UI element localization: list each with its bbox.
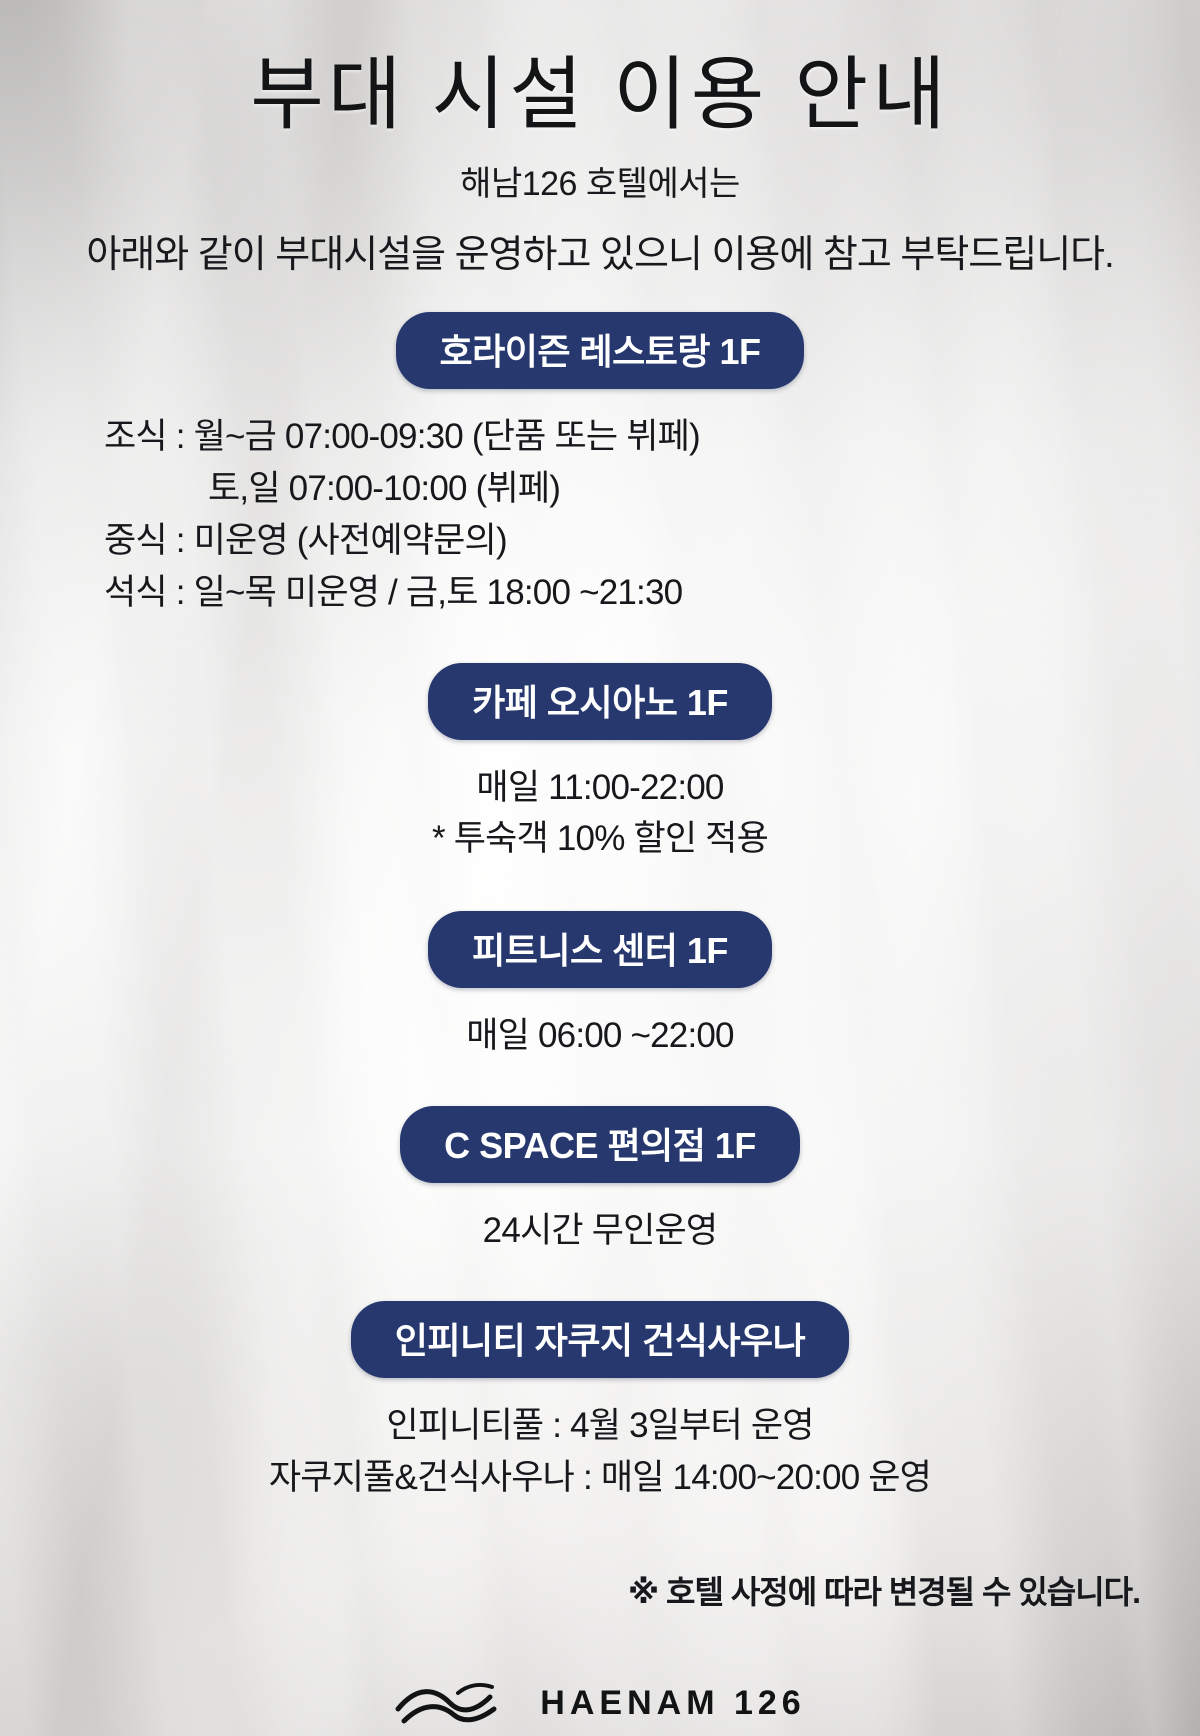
detail-line: 매일 11:00-22:00 [0, 762, 1200, 814]
detail-line: * 투숙객 10% 할인 적용 [0, 813, 1200, 865]
subtitle-line-1: 해남126 호텔에서는 [0, 156, 1200, 205]
facility-badge-convenience-store[interactable]: C SPACE 편의점 1F [400, 1106, 800, 1183]
detail-line: 조식 : 월~금 07:00-09:30 (단품 또는 뷔페) [104, 411, 1200, 463]
facility-details-fitness: 매일 06:00 ~22:00 [0, 1010, 1200, 1062]
notice-text: ※ 호텔 사정에 따라 변경될 수 있습니다. [0, 1567, 1200, 1613]
wave-icon [394, 1673, 514, 1734]
facility-section-convenience-store: C SPACE 편의점 1F 24시간 무인운영 [0, 1106, 1200, 1257]
detail-line: 토,일 07:00-10:00 (뷔페) [104, 463, 1200, 515]
facility-badge-cafe[interactable]: 카페 오시아노 1F [428, 663, 772, 740]
facility-details-sauna: 인피니티풀 : 4월 3일부터 운영 자쿠지풀&건식사우나 : 매일 14:00… [0, 1400, 1200, 1504]
detail-line: 인피니티풀 : 4월 3일부터 운영 [0, 1400, 1200, 1452]
page-title: 부대 시설 이용 안내 [0, 0, 1200, 142]
facility-section-restaurant: 호라이즌 레스토랑 1F 조식 : 월~금 07:00-09:30 (단품 또는… [0, 312, 1200, 618]
facility-section-sauna: 인피니티 자쿠지 건식사우나 인피니티풀 : 4월 3일부터 운영 자쿠지풀&건… [0, 1301, 1200, 1504]
subtitle-line-2: 아래와 같이 부대시설을 운영하고 있으니 이용에 참고 부탁드립니다. [0, 223, 1200, 278]
poster-content: 부대 시설 이용 안내 해남126 호텔에서는 아래와 같이 부대시설을 운영하… [0, 0, 1200, 1734]
brand-logo: HAENAM 126 [0, 1673, 1200, 1734]
facility-section-cafe: 카페 오시아노 1F 매일 11:00-22:00 * 투숙객 10% 할인 적… [0, 663, 1200, 866]
facility-details-convenience-store: 24시간 무인운영 [0, 1205, 1200, 1257]
facility-section-fitness: 피트니스 센터 1F 매일 06:00 ~22:00 [0, 911, 1200, 1062]
detail-line: 매일 06:00 ~22:00 [0, 1010, 1200, 1062]
poster: 부대 시설 이용 안내 해남126 호텔에서는 아래와 같이 부대시설을 운영하… [0, 0, 1200, 1736]
facility-details-cafe: 매일 11:00-22:00 * 투숙객 10% 할인 적용 [0, 762, 1200, 866]
detail-line: 자쿠지풀&건식사우나 : 매일 14:00~20:00 운영 [0, 1452, 1200, 1504]
detail-line: 중식 : 미운영 (사전예약문의) [104, 515, 1200, 567]
facility-badge-fitness[interactable]: 피트니스 센터 1F [428, 911, 772, 988]
facility-details-restaurant: 조식 : 월~금 07:00-09:30 (단품 또는 뷔페) 토,일 07:0… [0, 411, 1200, 618]
facility-badge-restaurant[interactable]: 호라이즌 레스토랑 1F [396, 312, 805, 389]
facility-badge-sauna[interactable]: 인피니티 자쿠지 건식사우나 [351, 1301, 849, 1378]
brand-name: HAENAM 126 [540, 1684, 805, 1723]
detail-line: 석식 : 일~목 미운영 / 금,토 18:00 ~21:30 [104, 567, 1200, 619]
detail-line: 24시간 무인운영 [0, 1205, 1200, 1257]
